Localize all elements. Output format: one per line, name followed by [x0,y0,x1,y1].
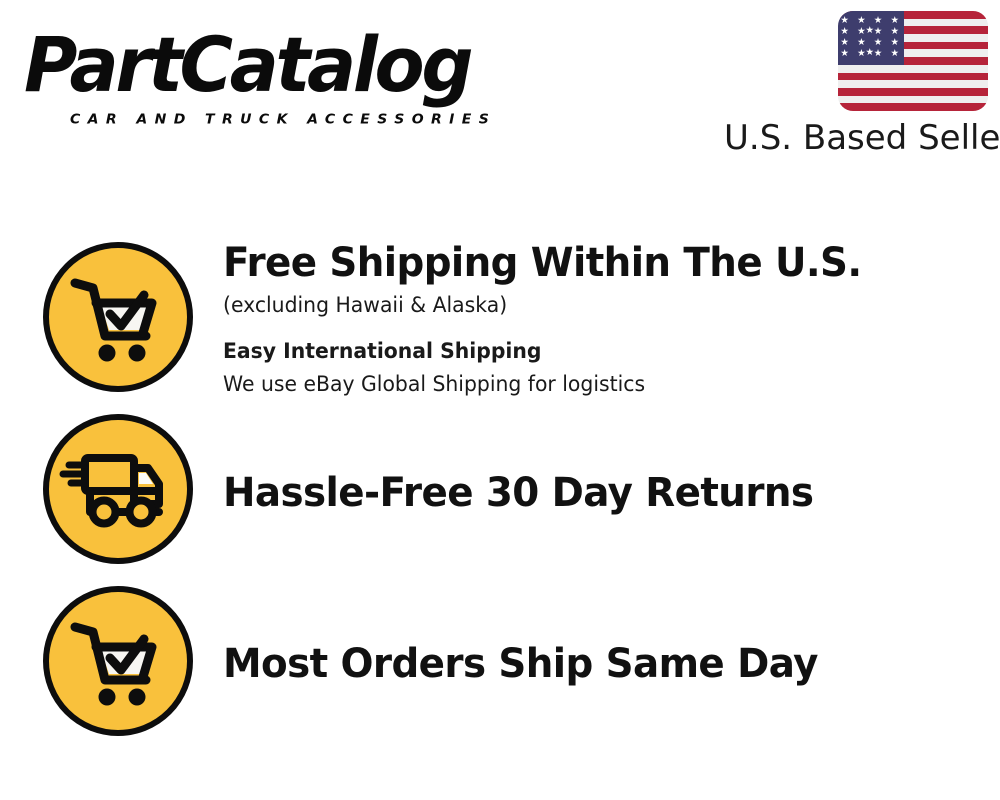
feature-heading: Most Orders Ship Same Day [223,640,970,688]
brand-tagline: CAR AND TRUCK ACCESSORIES [70,112,496,127]
feature-heading: Free Shipping Within The U.S. [223,239,970,287]
delivery-truck-icon [43,414,193,564]
feature-text-block: Most Orders Ship Same Day [223,640,993,688]
brand-wordmark: PartCatalog [24,22,470,108]
feature-row: Most Orders Ship Same Day [0,590,1000,745]
feature-subline-bold: Easy International Shipping [223,336,970,366]
flag-stripe [838,80,988,88]
flag-stripe [838,88,988,96]
feature-text-block: Hassle-Free 30 Day Returns [223,469,993,517]
flag-stripe [838,96,988,104]
feature-heading: Hassle-Free 30 Day Returns [223,469,970,517]
flag-canton: ★ ★ ★ ★ ★ ★ ★ ★ ★ ★ ★ ★ ★ ★ ★ ★ ★ ★ [838,11,904,65]
feature-subline: (excluding Hawaii & Alaska) [223,290,970,320]
shopping-cart-check-icon [43,586,193,736]
page-header: PartCatalog CAR AND TRUCK ACCESSORIES ★ … [0,0,1000,175]
shopping-cart-check-icon [43,242,193,392]
flag-stripe [838,103,988,111]
us-flag-icon: ★ ★ ★ ★ ★ ★ ★ ★ ★ ★ ★ ★ ★ ★ ★ ★ ★ ★ [838,11,988,111]
flag-star-row: ★ ★ ★ ★ [838,49,904,59]
feature-subline: We use eBay Global Shipping for logistic… [223,369,970,399]
flag-stripe [838,73,988,81]
flag-stripe [838,65,988,73]
feature-text-block: Free Shipping Within The U.S. (excluding… [223,239,993,399]
brand-logo[interactable]: PartCatalog CAR AND TRUCK ACCESSORIES [24,22,494,114]
us-based-seller-label: U.S. Based Seller [724,118,988,158]
feature-row: Free Shipping Within The U.S. (excluding… [0,240,1000,410]
feature-row: Hassle-Free 30 Day Returns [0,418,1000,573]
flag-star-row: ★ ★ ★ ★ [838,27,904,37]
